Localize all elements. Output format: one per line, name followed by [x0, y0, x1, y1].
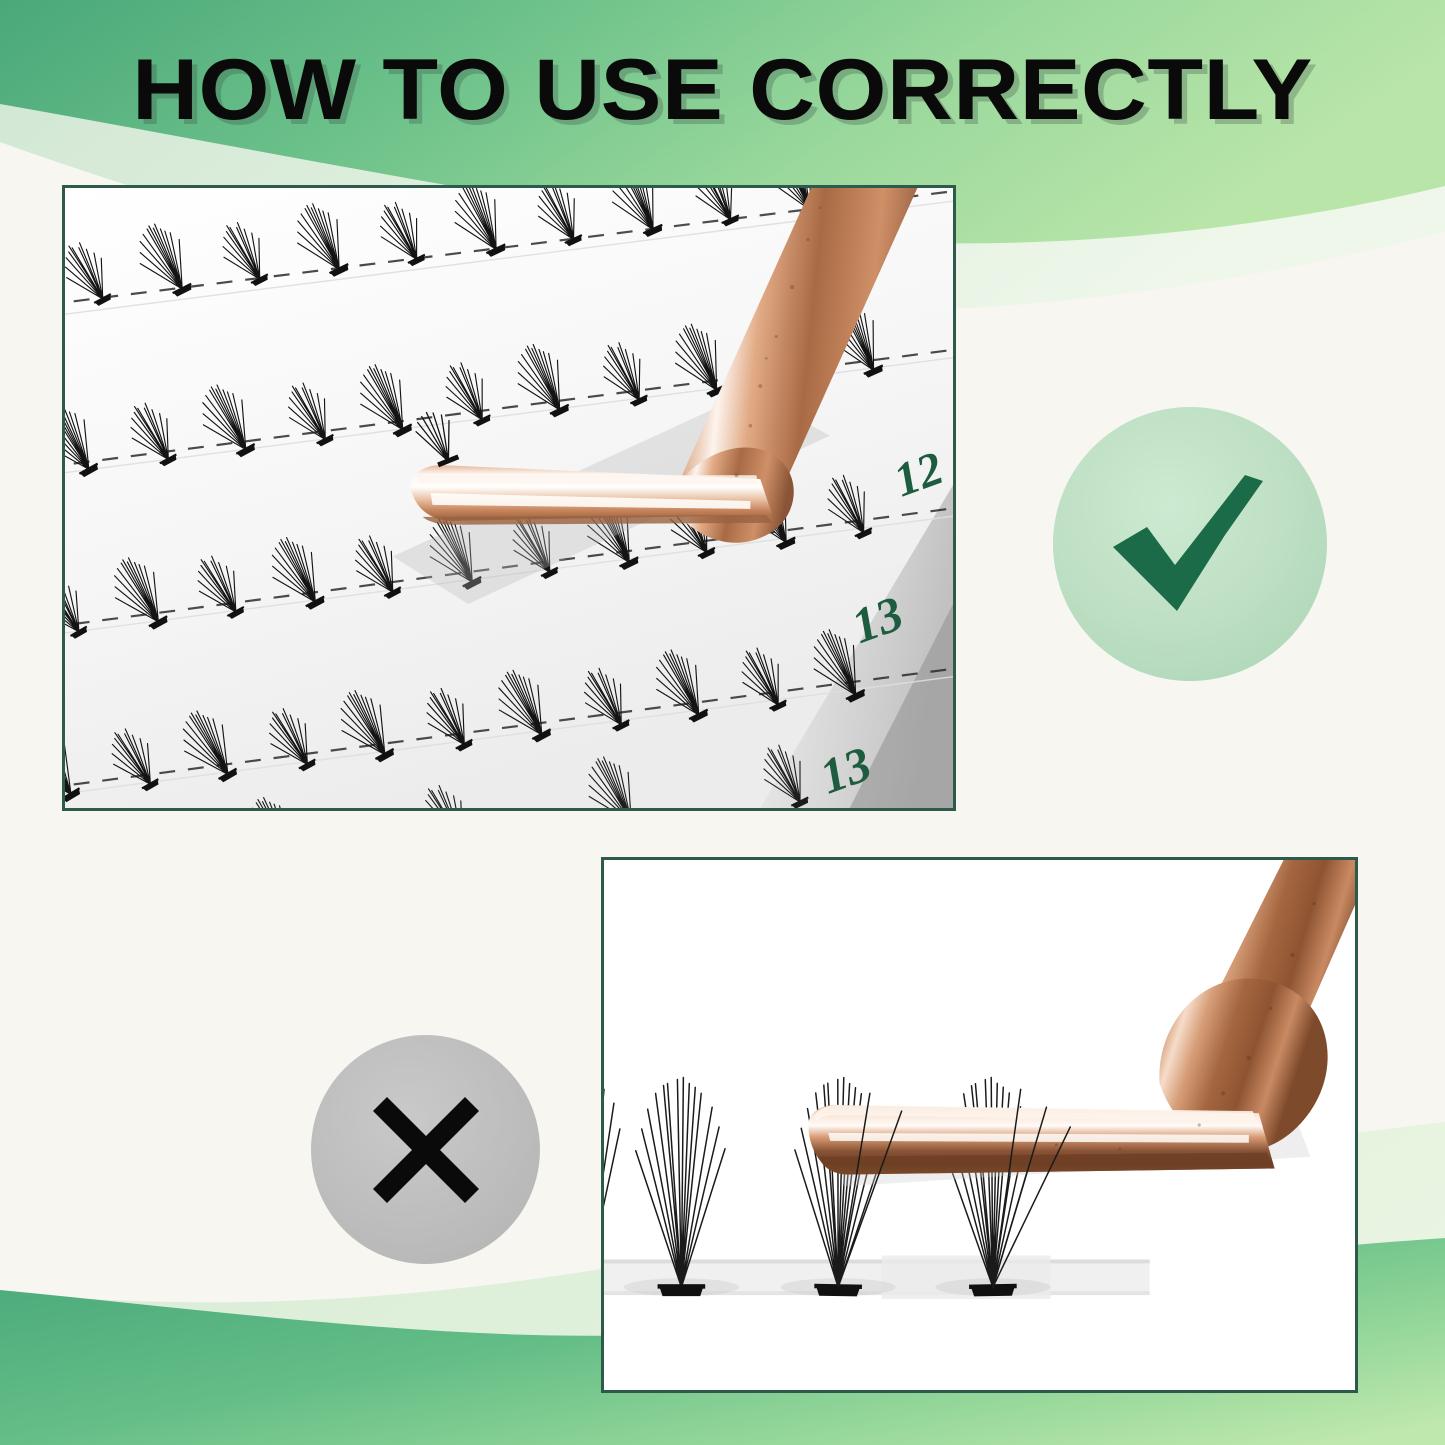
incorrect-cross-badge	[311, 1035, 540, 1264]
check-icon	[1105, 469, 1275, 619]
correct-check-badge	[1053, 407, 1327, 681]
incorrect-usage-photo	[601, 857, 1358, 1393]
correct-usage-photo: 12 13 13	[62, 185, 956, 811]
cross-icon	[367, 1091, 485, 1209]
incorrect-usage-illustration	[604, 860, 1355, 1390]
page-title: HOW TO USE CORRECTLY	[0, 47, 1445, 133]
instruction-graphic: HOW TO USE CORRECTLY	[0, 0, 1445, 1445]
correct-usage-illustration: 12 13 13	[65, 188, 953, 808]
